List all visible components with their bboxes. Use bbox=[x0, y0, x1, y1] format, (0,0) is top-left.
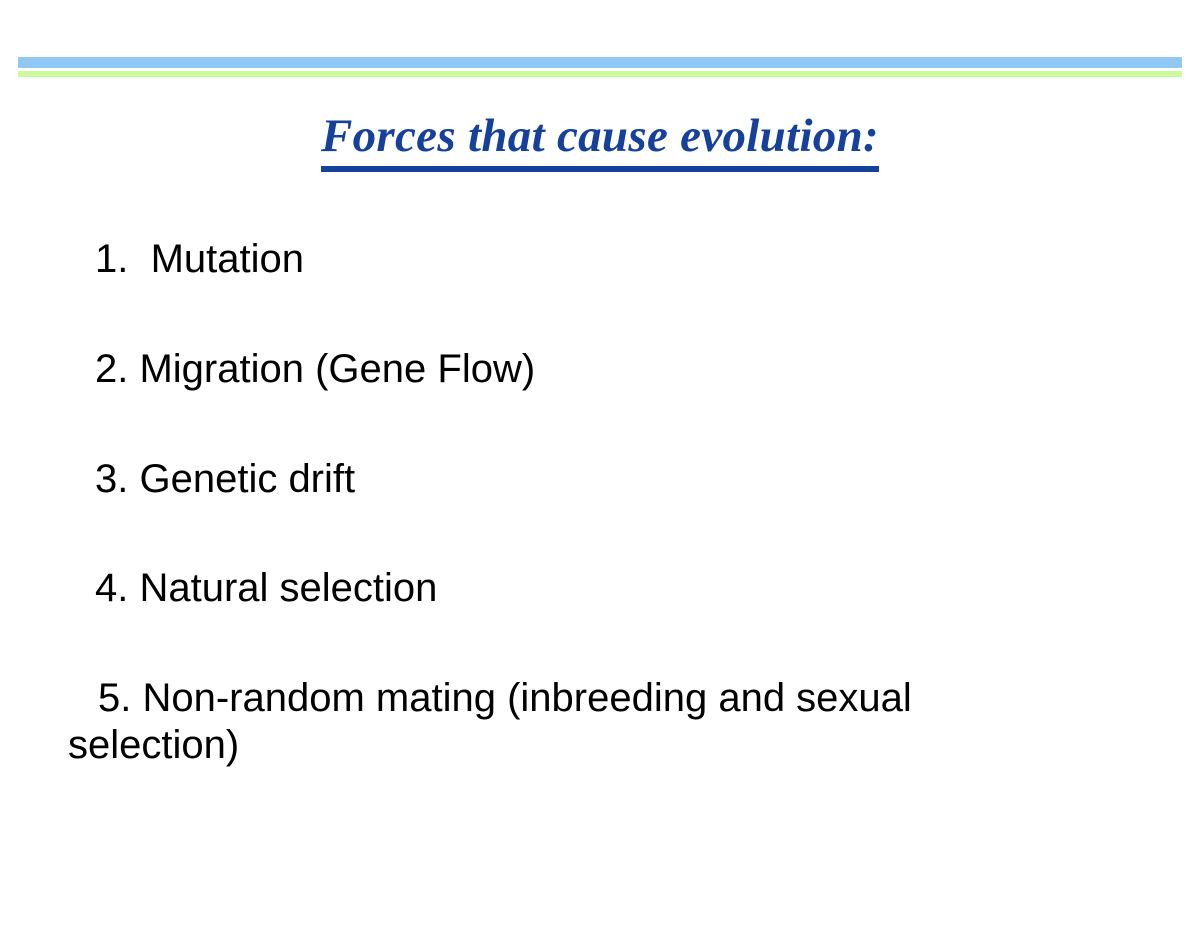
list-item-mutation: 1. Mutation bbox=[68, 236, 1078, 283]
slide-canvas: Forces that cause evolution: 1. Mutation… bbox=[0, 0, 1200, 927]
header-rule-blue bbox=[18, 57, 1182, 68]
header-rule-green bbox=[18, 71, 1182, 77]
list-item-migration: 2. Migration (Gene Flow) bbox=[68, 346, 1078, 393]
forces-list: 1. Mutation 2. Migration (Gene Flow) 3. … bbox=[68, 236, 1078, 769]
list-item-non-random-mating: 5. Non-random mating (inbreeding and sex… bbox=[68, 675, 1078, 769]
list-item-genetic-drift: 3. Genetic drift bbox=[68, 456, 1078, 503]
list-item-natural-selection: 4. Natural selection bbox=[68, 565, 1078, 612]
slide-title: Forces that cause evolution: bbox=[321, 110, 879, 172]
slide-title-container: Forces that cause evolution: bbox=[0, 110, 1200, 172]
